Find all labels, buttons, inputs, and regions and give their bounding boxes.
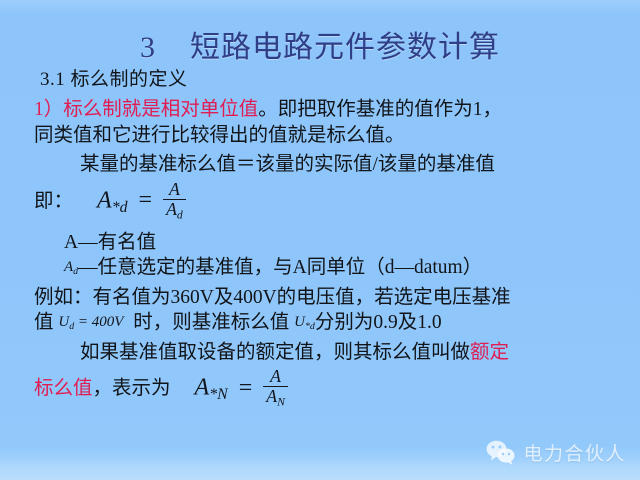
legend-item-2-text: —任意选定的基准值，与A同单位（d—datum） [78, 257, 482, 278]
formula2-equals-sign: = [239, 375, 253, 401]
formula1-lead-label: 即： [34, 192, 73, 212]
legend-item-1: A—有名值 [34, 233, 612, 253]
formula2-denominator: AN [263, 386, 288, 409]
rated-red-part-2: 标么值 [34, 379, 93, 399]
example-inline-formula-ud: Ud = 400V [58, 315, 123, 332]
formula1-lhs-variable: A [97, 187, 112, 213]
legend-item-2-symbol: Ad [64, 260, 78, 277]
legend-item-2-variable: A [64, 259, 73, 275]
formula1-fraction: A Ad [163, 180, 186, 222]
example-ud-variable: U [58, 314, 69, 330]
example-ud-rest: = 400V [78, 314, 124, 330]
rated-black-part-1: 如果基准值取设备的额定值，则其标么值叫做 [80, 342, 470, 363]
example-line2-suffix: 分别为0.9及1.0 [315, 312, 442, 333]
example-inline-formula-ustar: U*d [294, 315, 315, 332]
formula1-numerator: A [163, 180, 186, 199]
example-ustar-variable: U [294, 314, 305, 330]
formula2-numerator: A [263, 367, 288, 386]
example-ustar-subscript: *d [305, 321, 315, 332]
rated-black-part-2: ，表示为 [93, 379, 171, 399]
section-subheading: 3.1 标么制的定义 [34, 70, 612, 89]
formula1-equals-sign: = [139, 187, 153, 213]
formula2-denominator-variable: A [266, 386, 277, 406]
formula1-denominator: Ad [163, 199, 186, 222]
rated-line1: 如果基准值取设备的额定值，则其标么值叫做额定 [34, 343, 612, 363]
formula2-lhs-variable: A [195, 375, 210, 401]
example-line2-prefix: 值 [34, 312, 54, 333]
formula1-denominator-subscript: d [177, 208, 183, 221]
paragraph1-line1: 1）标么制就是相对单位值。即把取作基准的值作为1， [34, 100, 612, 120]
page-title: 3 短路电路元件参数计算 [0, 22, 640, 66]
example-line2: 值 Ud = 400V 时，则基准标么值 U*d分别为0.9及1.0 [34, 313, 612, 333]
formula2-expression: A*N = A AN [195, 368, 288, 410]
formula1-denominator-variable: A [166, 199, 177, 219]
example-ud-subscript: d [69, 321, 74, 332]
slide-body: 3.1 标么制的定义 1）标么制就是相对单位值。即把取作基准的值作为1， 同类值… [34, 70, 612, 410]
definition-line: 某量的基准标么值＝该量的实际值/该量的基准值 [34, 155, 612, 175]
rated-red-part-1: 额定 [470, 342, 509, 363]
formula2-denominator-subscript: N [277, 396, 285, 409]
watermark-label: 电力合伙人 [523, 439, 626, 466]
rated-line2: 标么值，表示为 A*N = A AN [34, 368, 612, 410]
example-line1: 例如：有名值为360V及400V的电压值，若选定电压基准 [34, 288, 612, 308]
formula1-expression: A*d = A Ad [97, 181, 186, 223]
formula1-row: 即： A*d = A Ad [34, 181, 612, 223]
wechat-icon [485, 439, 516, 466]
example-line2-middle: 时，则基准标么值 [133, 312, 289, 333]
presentation-slide: 3 短路电路元件参数计算 3.1 标么制的定义 1）标么制就是相对单位值。即把取… [0, 0, 640, 480]
formula2-lhs-subscript: *N [209, 386, 227, 403]
paragraph1-line2: 同类值和它进行比较得出的值就是标么值。 [34, 126, 612, 146]
watermark: 电力合伙人 [485, 439, 626, 466]
top-sheen-band [0, 0, 640, 14]
paragraph1-red-emphasis: 1）标么制就是相对单位值 [34, 99, 258, 120]
legend-item-2: Ad—任意选定的基准值，与A同单位（d—datum） [34, 258, 612, 278]
formula2-fraction: A AN [263, 367, 288, 409]
formula1-lhs-subscript: *d [112, 199, 128, 216]
paragraph1-black-tail: 。即把取作基准的值作为1， [258, 99, 502, 120]
